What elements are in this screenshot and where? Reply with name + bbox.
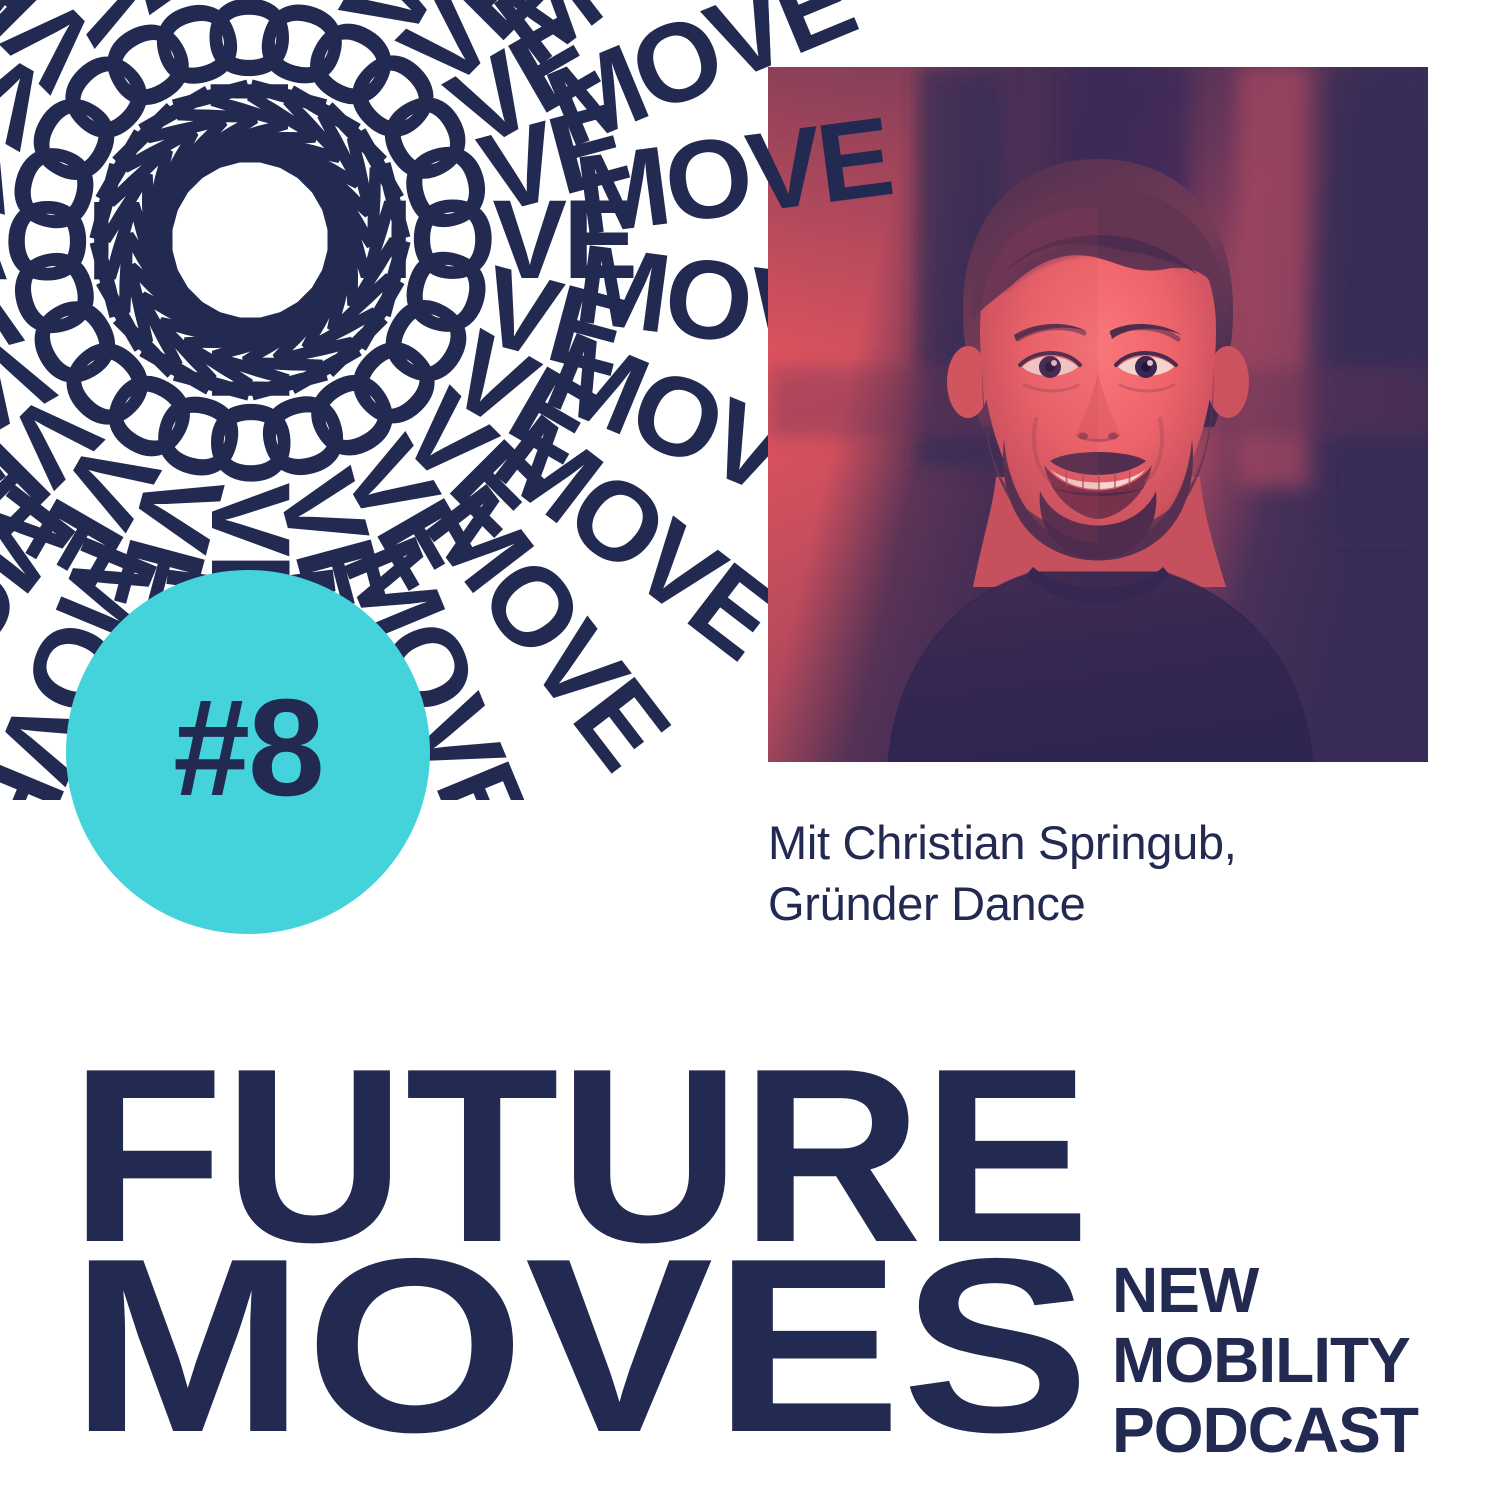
tagline-line-2: MOBILITY [1112,1326,1418,1396]
guest-portrait [768,67,1428,762]
guest-caption-line-1: Mit Christian Springub, [768,812,1458,873]
podcast-cover-art: MOVE MOVE MOVE MOVE MOVE MOVE MOVE MOVE … [0,0,1500,1500]
episode-number-badge: #8 [66,570,430,934]
logo-line-moves: MOVES [70,1206,1090,1445]
guest-caption: Mit Christian Springub, Gründer Dance [768,812,1458,934]
guest-portrait-image [768,67,1428,762]
guest-caption-line-2: Gründer Dance [768,873,1458,934]
podcast-tagline: NEW MOBILITY PODCAST [1112,1256,1418,1465]
tagline-line-1: NEW [1112,1256,1418,1326]
episode-number-label: #8 [173,679,323,817]
show-logotype-svg: FUTURE MOVES [70,1045,1100,1445]
show-logotype: FUTURE MOVES [70,1045,1100,1445]
tagline-line-3: PODCAST [1112,1396,1418,1466]
